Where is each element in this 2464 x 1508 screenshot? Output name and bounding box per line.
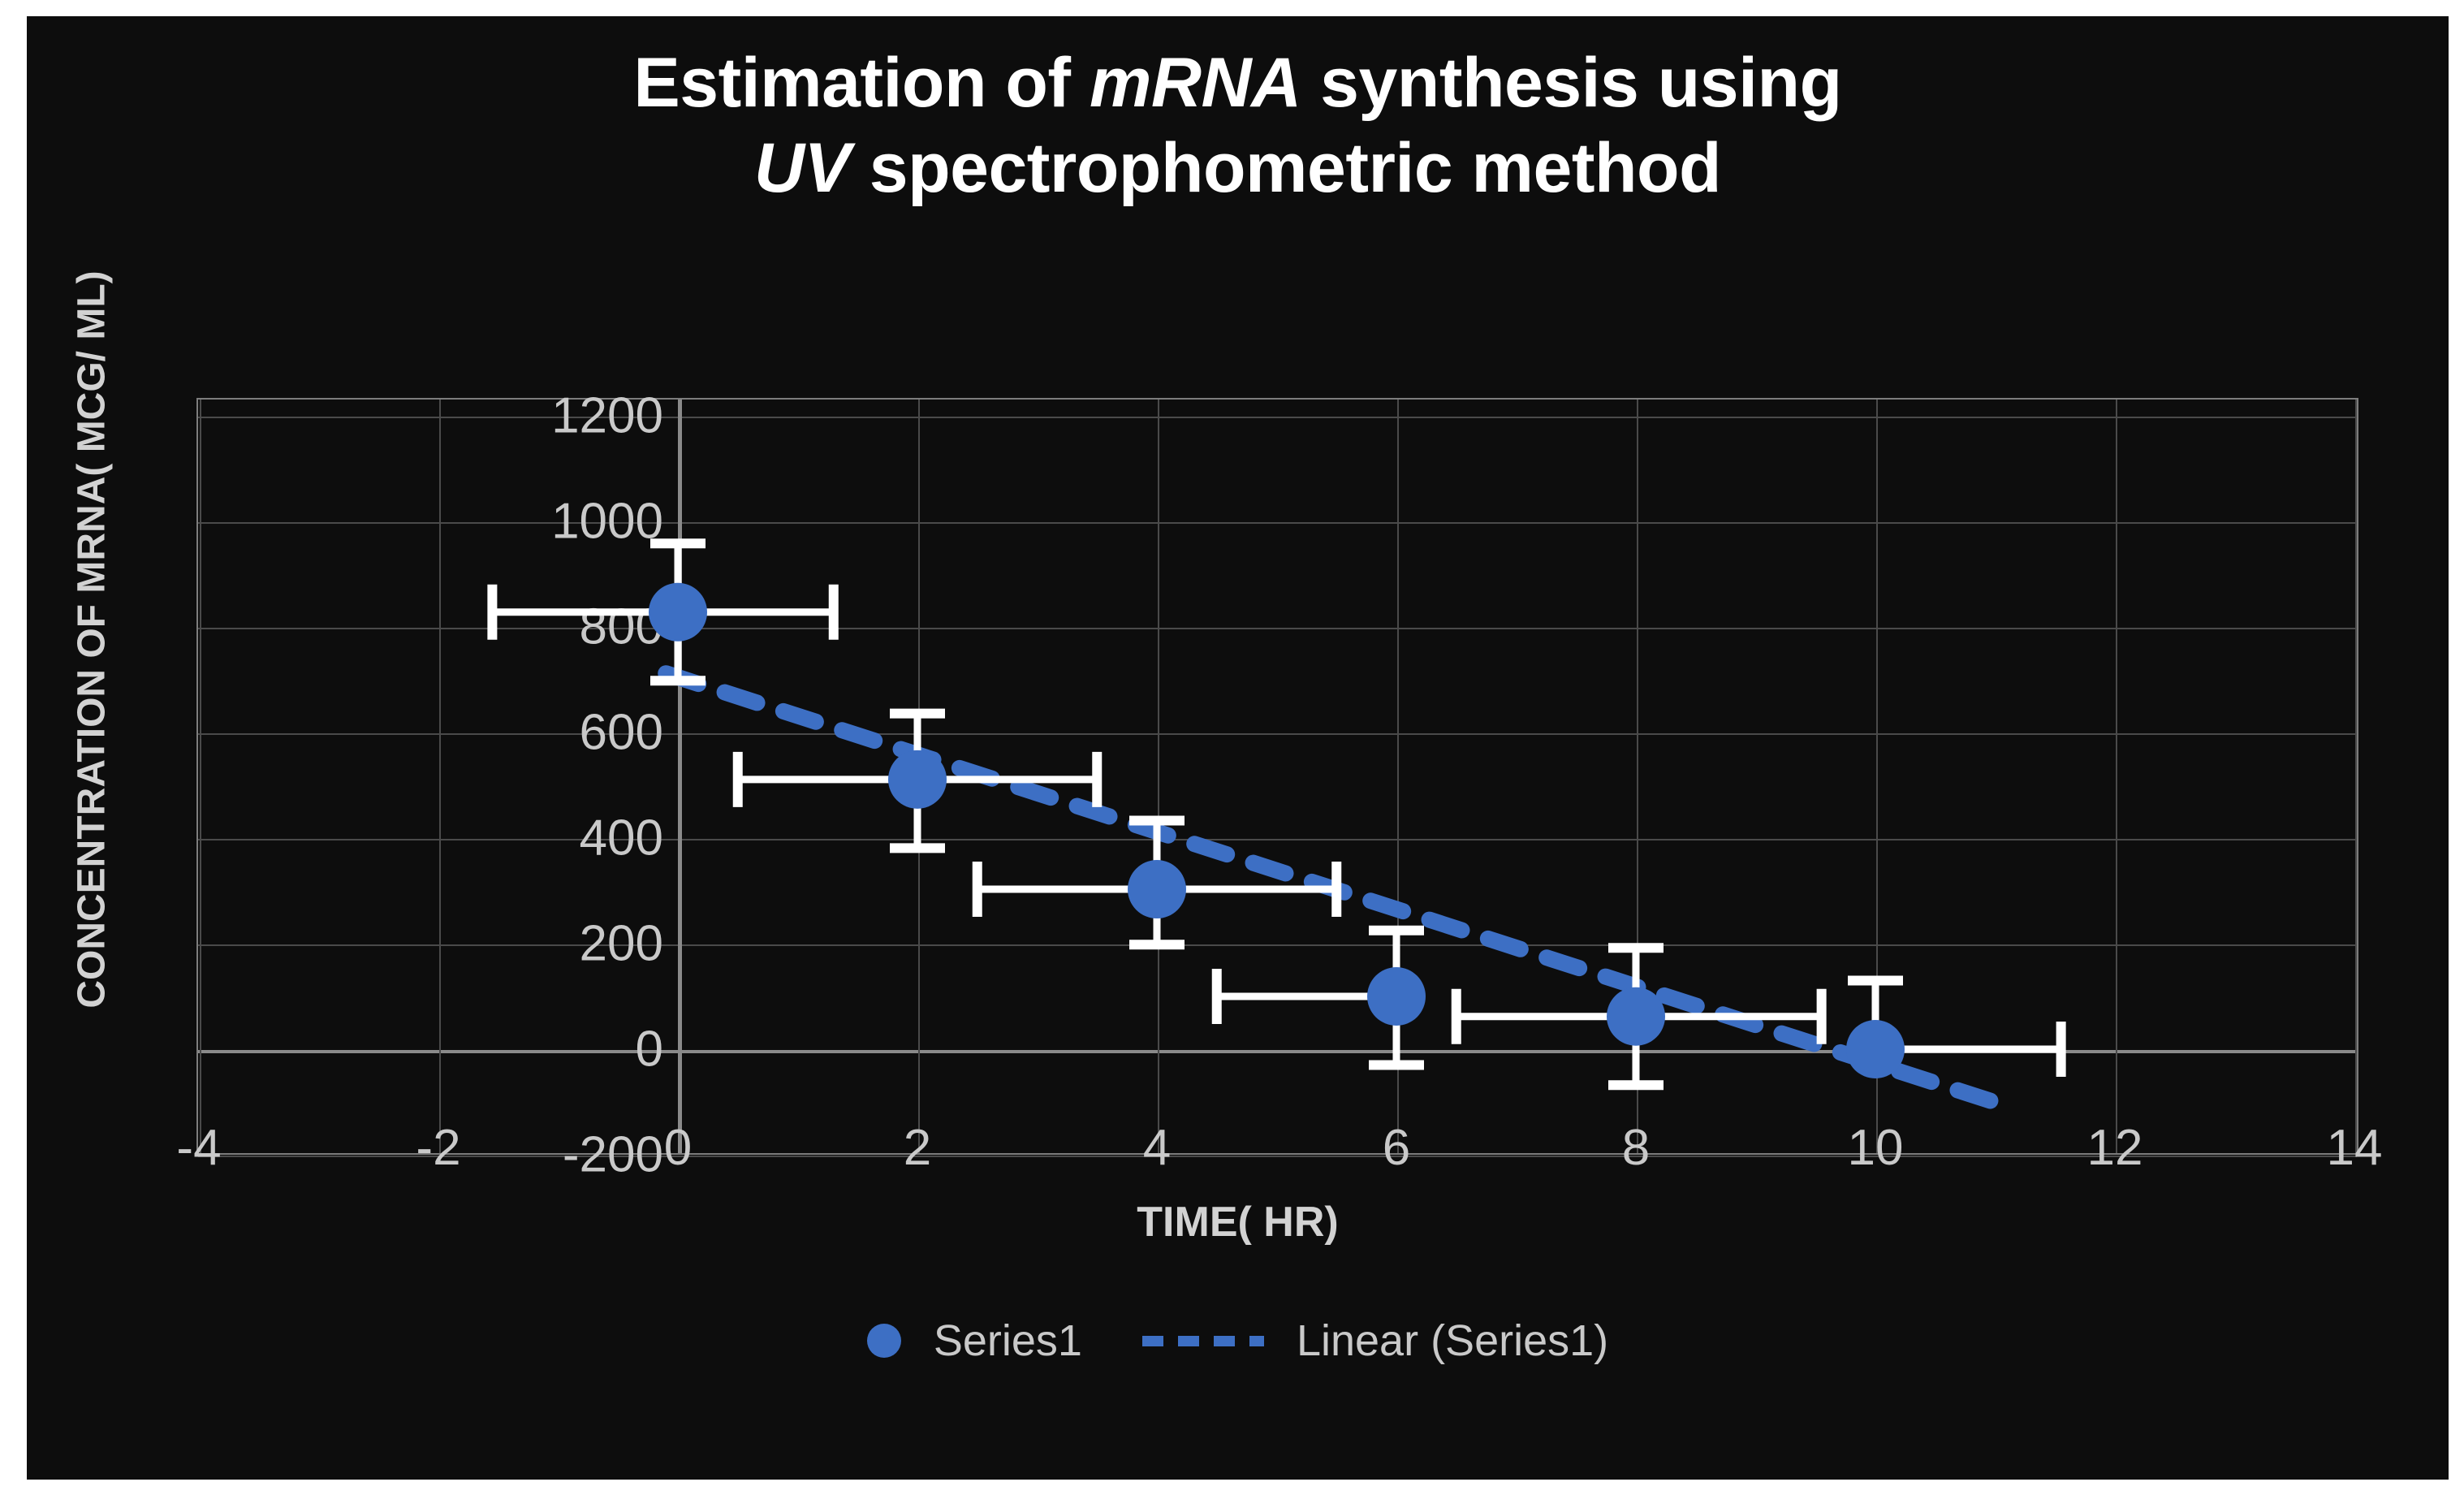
- gridline-vertical: [200, 400, 201, 1153]
- y-axis-line: [678, 400, 682, 1153]
- chart-title-line-1: Estimation of mRNA synthesis using: [27, 41, 2449, 126]
- legend-entry-series1: Series1: [867, 1316, 1082, 1366]
- legend-label-trendline: Linear (Series1): [1297, 1316, 1608, 1366]
- x-axis-tick-label: 14: [2327, 1119, 2383, 1177]
- gridline-vertical: [1158, 400, 1159, 1153]
- gridline-horizontal: [198, 417, 2357, 418]
- y-axis-tick-label: 800: [580, 598, 663, 656]
- legend-label-series1: Series1: [934, 1316, 1082, 1366]
- y-axis-tick-label: 200: [580, 915, 663, 973]
- x-axis-tick-label: 6: [1383, 1119, 1410, 1177]
- gridline-vertical: [1876, 400, 1878, 1153]
- gridline-vertical: [2355, 400, 2357, 1153]
- gridline-horizontal: [198, 944, 2357, 946]
- chart-legend: Series1 Linear (Series1): [27, 1316, 2449, 1366]
- x-axis-tick-label: 4: [1143, 1119, 1171, 1177]
- x-axis-tick-label: 12: [2087, 1119, 2143, 1177]
- title-text-mrna: mRNA: [1090, 44, 1301, 122]
- x-axis-tick-label: -4: [176, 1119, 221, 1177]
- title-text-post: synthesis using: [1301, 44, 1842, 122]
- y-axis-tick-label: 600: [580, 704, 663, 762]
- y-axis-tick-label: 1200: [551, 387, 663, 445]
- gridline-horizontal: [198, 628, 2357, 629]
- x-axis-tick-label: 2: [904, 1119, 931, 1177]
- y-axis-tick-label: 1000: [551, 493, 663, 551]
- chart-canvas: Estimation of mRNA synthesis using UV sp…: [27, 16, 2449, 1480]
- dashed-line-icon: [1142, 1336, 1264, 1346]
- x-axis-tick-label: 10: [1848, 1119, 1904, 1177]
- y-axis-tick-label: -200: [563, 1126, 663, 1184]
- title-text-pre: Estimation of: [633, 44, 1090, 122]
- plot-area: [196, 398, 2358, 1155]
- chart-title: Estimation of mRNA synthesis using UV sp…: [27, 41, 2449, 211]
- gridline-vertical: [439, 400, 441, 1153]
- x-axis-tick-label: 8: [1622, 1119, 1650, 1177]
- gridline-horizontal: [198, 1156, 2357, 1157]
- gridline-vertical: [1397, 400, 1399, 1153]
- y-axis-tick-label: 0: [636, 1021, 663, 1078]
- gridline-horizontal: [198, 733, 2357, 735]
- gridline-vertical: [1637, 400, 1638, 1153]
- x-axis-title: TIME( HR): [27, 1198, 2449, 1247]
- gridline-vertical: [2116, 400, 2117, 1153]
- y-axis-title: CONCENTRATION OF MRNA( MCG/ ML): [70, 120, 114, 1160]
- x-axis-tick-label: -2: [416, 1119, 460, 1177]
- y-axis-tick-label: 400: [580, 810, 663, 867]
- gridline-horizontal: [198, 522, 2357, 524]
- chart-title-line-2: UV spectrophometric method: [27, 126, 2449, 211]
- legend-entry-trendline: Linear (Series1): [1142, 1316, 1608, 1366]
- x-axis-tick-label: 0: [664, 1119, 692, 1177]
- circle-marker-icon: [867, 1324, 901, 1358]
- gridline-vertical: [918, 400, 920, 1153]
- gridline-horizontal: [198, 1050, 2357, 1053]
- title-text-method: spectrophometric method: [850, 129, 1721, 207]
- title-text-uv: UV: [754, 129, 850, 207]
- gridline-horizontal: [198, 839, 2357, 840]
